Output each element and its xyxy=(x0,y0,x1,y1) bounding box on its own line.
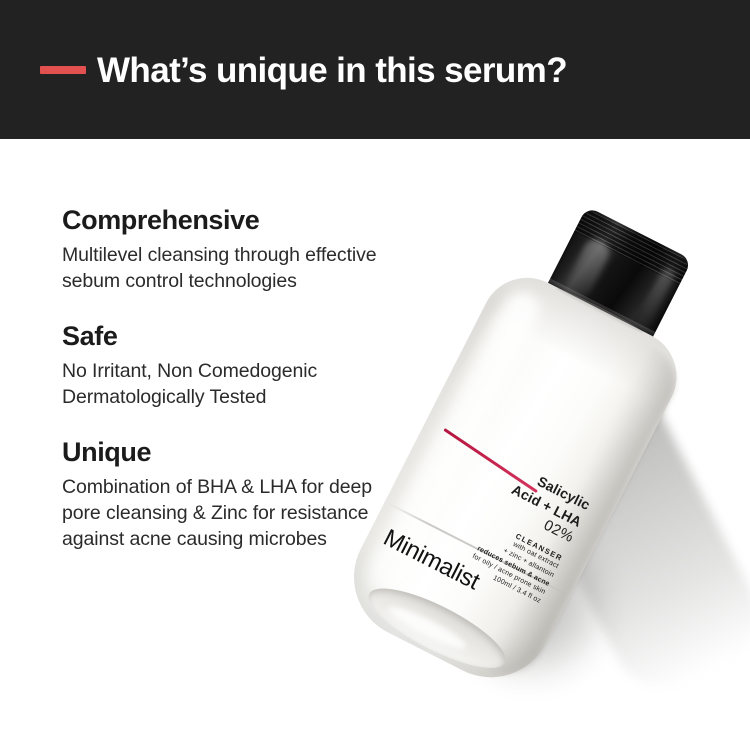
feature-title: Safe xyxy=(62,321,407,352)
feature-title: Unique xyxy=(62,437,407,468)
feature-item: Comprehensive Multilevel cleansing throu… xyxy=(62,205,407,295)
feature-list: Comprehensive Multilevel cleansing throu… xyxy=(62,205,407,553)
product-image: Salicylic Acid + LHA 02% CLEANSER with o… xyxy=(390,179,750,749)
feature-item: Safe No Irritant, Non Comedogenic Dermat… xyxy=(62,321,407,411)
content-area: Comprehensive Multilevel cleansing throu… xyxy=(0,139,750,750)
feature-description: Multilevel cleansing through effective s… xyxy=(62,243,407,295)
feature-description: Combination of BHA & LHA for deep pore c… xyxy=(62,475,407,553)
accent-dash-icon xyxy=(40,66,86,74)
feature-title: Comprehensive xyxy=(62,205,407,236)
page-title: What’s unique in this serum? xyxy=(97,50,567,92)
feature-description: No Irritant, Non Comedogenic Dermatologi… xyxy=(62,359,407,411)
feature-item: Unique Combination of BHA & LHA for deep… xyxy=(62,437,407,553)
header-band: What’s unique in this serum? xyxy=(0,0,750,139)
